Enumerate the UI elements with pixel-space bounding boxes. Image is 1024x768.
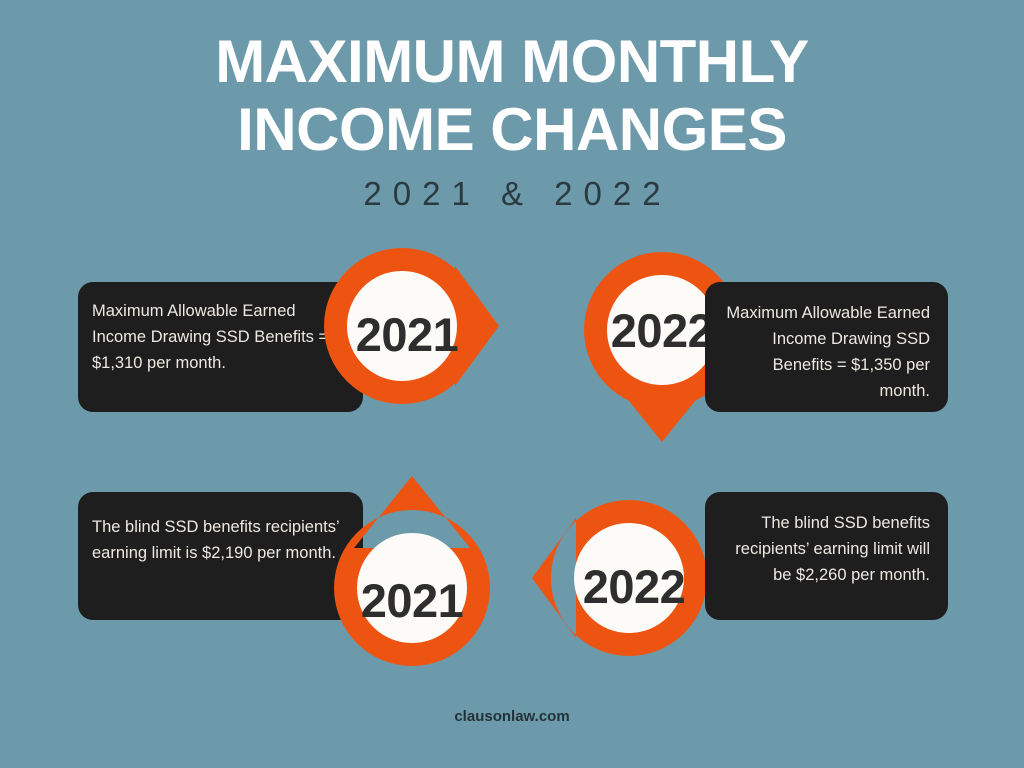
infographic-poster: MAXIMUM MONTHLY INCOME CHANGES 2021 & 20… <box>0 0 1024 768</box>
info-card-top-right-text: Maximum Allowable Earned Income Drawing … <box>723 300 930 404</box>
info-card-top-right: Maximum Allowable Earned Income Drawing … <box>705 282 948 412</box>
info-card-bottom-right: The blind SSD benefits recipients’ earni… <box>705 492 948 620</box>
map-pin-up-icon <box>312 476 512 676</box>
info-card-bottom-left-text: The blind SSD benefits recipients’ earni… <box>92 514 345 566</box>
pin-marker-2022-bottom[interactable]: 2022 <box>524 486 724 686</box>
page-title-line-1: MAXIMUM MONTHLY <box>0 28 1024 96</box>
footer: clausonlaw.com <box>0 708 1024 725</box>
pin-marker-2021-bottom[interactable]: 2021 <box>312 476 512 676</box>
comparison-row-bottom: The blind SSD benefits recipients’ earni… <box>0 440 1024 670</box>
map-pin-right-icon <box>307 234 507 434</box>
header: MAXIMUM MONTHLY INCOME CHANGES 2021 & 20… <box>0 28 1024 212</box>
footer-website: clausonlaw.com <box>454 708 569 725</box>
pin-marker-2021-top[interactable]: 2021 <box>307 234 507 434</box>
map-pin-left-icon <box>524 486 724 686</box>
info-card-bottom-right-text: The blind SSD benefits recipients’ earni… <box>723 510 930 588</box>
page-subtitle: 2021 & 2022 <box>0 176 1024 212</box>
comparison-row-top: Maximum Allowable Earned Income Drawing … <box>0 228 1024 458</box>
page-title-line-2: INCOME CHANGES <box>0 96 1024 164</box>
